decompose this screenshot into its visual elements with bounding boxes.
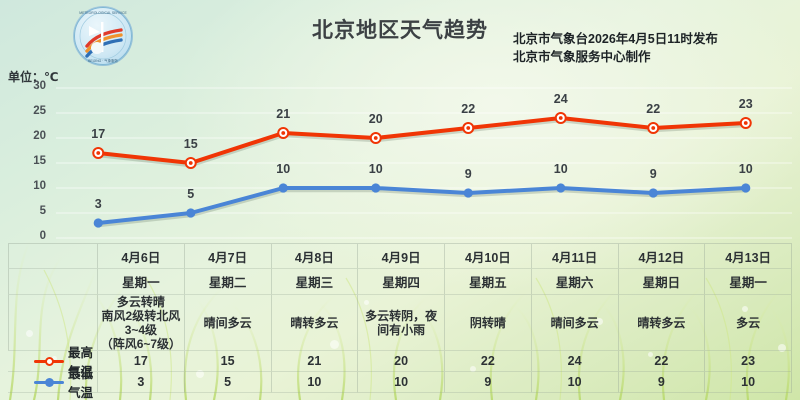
table-cell-date-7: 4月13日: [705, 243, 792, 269]
legend-high-marker-icon: [34, 356, 64, 366]
table-cell-weekday-2: 星期三: [272, 269, 359, 295]
table-cell-low-3: 10: [358, 372, 445, 393]
table-corner-weekday: [8, 269, 98, 295]
y-axis-tick-label: 10: [10, 180, 46, 192]
data-point-label: 22: [461, 102, 475, 116]
data-point-label: 24: [554, 92, 568, 106]
table-corner-date: [8, 243, 98, 269]
table-cell-high-1: 15: [185, 351, 272, 372]
table-cell-date-4: 4月10日: [445, 243, 532, 269]
y-axis-tick-label: 5: [10, 205, 46, 217]
table-cell-weekday-0: 星期一: [98, 269, 185, 295]
table-cell-low-6: 9: [619, 372, 706, 393]
data-point-label: 17: [91, 127, 105, 141]
table-cell-high-2: 21: [272, 351, 359, 372]
table-cell-high-4: 22: [445, 351, 532, 372]
legend-low-marker-icon: [34, 377, 64, 387]
table-cell-high-6: 22: [619, 351, 706, 372]
forecast-table: 4月6日4月7日4月8日4月9日4月10日4月11日4月12日4月13日星期一星…: [8, 243, 792, 393]
data-point-label: 9: [465, 167, 472, 181]
table-cell-high-5: 24: [532, 351, 619, 372]
y-axis-tick-label: 20: [10, 130, 46, 142]
data-point-label: 5: [187, 187, 194, 201]
table-cell-description-7: 多云: [705, 295, 792, 351]
table-cell-description-2: 晴转多云: [272, 295, 359, 351]
table-cell-description-4: 阴转晴: [445, 295, 532, 351]
table-cell-description-6: 晴转多云: [619, 295, 706, 351]
data-point-label: 9: [650, 167, 657, 181]
table-cell-weekday-6: 星期日: [619, 269, 706, 295]
table-cell-low-0: 3: [98, 372, 185, 393]
data-point-label: 23: [739, 97, 753, 111]
table-cell-high-0: 17: [98, 351, 185, 372]
table-cell-date-3: 4月9日: [358, 243, 445, 269]
y-axis-tick-label: 30: [10, 80, 46, 92]
table-cell-high-7: 23: [705, 351, 792, 372]
data-point-label: 3: [95, 197, 102, 211]
data-point-label: 20: [369, 112, 383, 126]
table-cell-weekday-3: 星期四: [358, 269, 445, 295]
data-point-label: 21: [276, 107, 290, 121]
weather-trend-infographic: METEOROLOGICAL SERVICE BEIJING · 气象服务 北京…: [0, 0, 800, 400]
table-cell-date-1: 4月7日: [185, 243, 272, 269]
y-axis-tick-label: 25: [10, 105, 46, 117]
table-cell-weekday-7: 星期一: [705, 269, 792, 295]
table-cell-high-3: 20: [358, 351, 445, 372]
table-cell-low-1: 5: [185, 372, 272, 393]
table-cell-weekday-1: 星期二: [185, 269, 272, 295]
table-cell-date-2: 4月8日: [272, 243, 359, 269]
table-cell-date-5: 4月11日: [532, 243, 619, 269]
table-cell-low-4: 9: [445, 372, 532, 393]
table-cell-description-0: 多云转晴南风2级转北风3~4级（阵风6~7级）: [98, 295, 185, 351]
table-cell-weekday-4: 星期五: [445, 269, 532, 295]
table-cell-date-6: 4月12日: [619, 243, 706, 269]
legend-low-label: 最低气温: [68, 363, 97, 400]
legend-low-temperature: 最低气温: [8, 372, 98, 393]
table-cell-date-0: 4月6日: [98, 243, 185, 269]
table-cell-description-5: 晴间多云: [532, 295, 619, 351]
table-cell-low-7: 10: [705, 372, 792, 393]
table-cell-description-3: 多云转阴，夜间有小雨: [358, 295, 445, 351]
y-axis-tick-label: 15: [10, 155, 46, 167]
data-point-label: 10: [554, 162, 568, 176]
y-axis-tick-label: 0: [10, 230, 46, 242]
table-cell-low-2: 10: [272, 372, 359, 393]
data-point-label: 22: [646, 102, 660, 116]
data-point-label: 15: [184, 137, 198, 151]
data-point-label: 10: [276, 162, 290, 176]
data-point-label: 10: [369, 162, 383, 176]
data-point-label: 10: [739, 162, 753, 176]
table-cell-low-5: 10: [532, 372, 619, 393]
table-cell-weekday-5: 星期六: [532, 269, 619, 295]
table-cell-description-1: 晴间多云: [185, 295, 272, 351]
